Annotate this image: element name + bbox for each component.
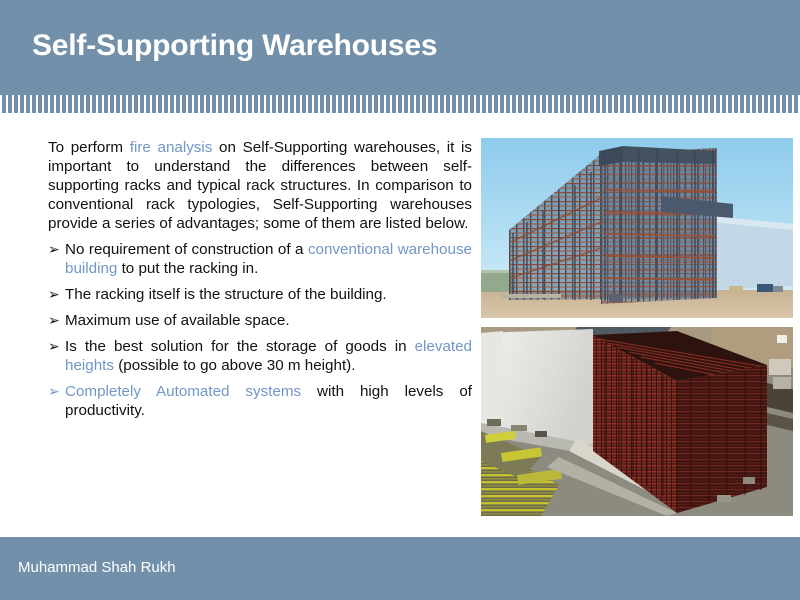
intro-paragraph: To perform fire analysis on Self-Support… bbox=[48, 138, 472, 233]
list-item: ➢Is the best solution for the storage of… bbox=[48, 337, 472, 375]
header-tick-divider bbox=[0, 95, 800, 113]
slide: Self-Supporting Warehouses To perform fi… bbox=[0, 0, 800, 600]
steel-rack-warehouse-construction-photo bbox=[481, 138, 793, 318]
tick-pattern bbox=[0, 95, 800, 113]
arrow-bullet-icon: ➢ bbox=[48, 285, 60, 304]
list-item: ➢No requirement of construction of a con… bbox=[48, 240, 472, 278]
page-title: Self-Supporting Warehouses bbox=[32, 26, 437, 66]
arrow-bullet-icon: ➢ bbox=[48, 382, 60, 401]
list-item: ➢Maximum use of available space. bbox=[48, 311, 472, 330]
bullet-5-accent: Completely Automated systems bbox=[65, 383, 301, 400]
text-column: To perform fire analysis on Self-Support… bbox=[48, 138, 472, 420]
list-item: ➢Completely Automated systems with high … bbox=[48, 382, 472, 420]
arrow-bullet-icon: ➢ bbox=[48, 240, 60, 259]
intro-text-part-1: To perform bbox=[48, 139, 130, 156]
list-item: ➢The racking itself is the structure of … bbox=[48, 285, 472, 304]
aerial-self-supporting-warehouse-photo bbox=[481, 327, 793, 516]
arrow-bullet-icon: ➢ bbox=[48, 311, 60, 330]
bullet-1-text-part-2: to put the racking in. bbox=[117, 260, 258, 277]
bullet-4-text-part-2: (possible to go above 30 m height). bbox=[114, 357, 355, 374]
bullet-3-text-part-1: Maximum use of available space. bbox=[65, 312, 290, 329]
footer-author: Muhammad Shah Rukh bbox=[18, 558, 176, 578]
bullet-1-text-part-1: No requirement of construction of a bbox=[65, 241, 308, 258]
photo-top-artwork bbox=[481, 138, 793, 318]
bullet-2-text-part-1: The racking itself is the structure of t… bbox=[65, 286, 387, 303]
intro-accent-fire-analysis: fire analysis bbox=[130, 139, 213, 156]
advantages-list: ➢No requirement of construction of a con… bbox=[48, 240, 472, 420]
slide-content: To perform fire analysis on Self-Support… bbox=[0, 113, 800, 537]
photo-bottom-artwork bbox=[481, 327, 793, 516]
bullet-4-text-part-1: Is the best solution for the storage of … bbox=[65, 338, 415, 355]
arrow-bullet-icon: ➢ bbox=[48, 337, 60, 356]
